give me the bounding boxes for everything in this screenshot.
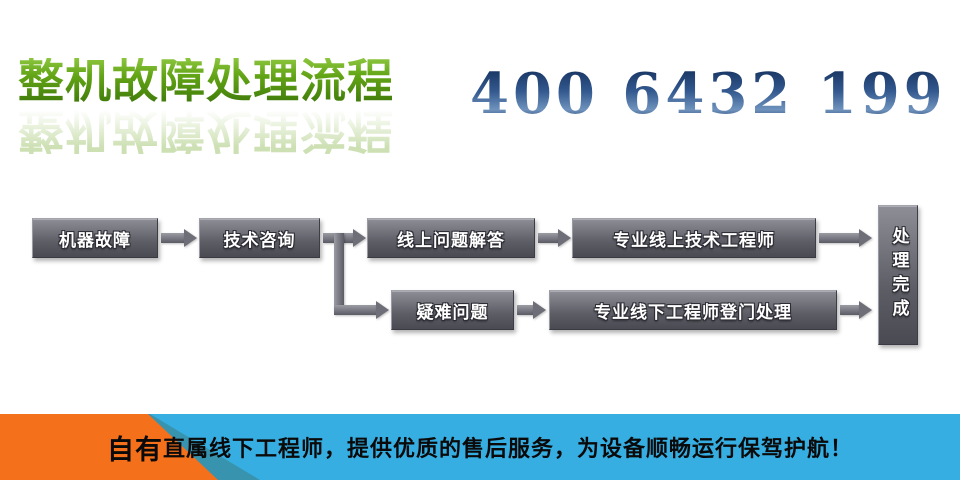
- banner-slogan-emphasis: 自有: [107, 428, 163, 467]
- flow-node-online-engineer[interactable]: 专业线上技术工程师: [572, 218, 816, 258]
- flow-node-online-answer[interactable]: 线上问题解答: [367, 218, 535, 258]
- poster-canvas: 整机故障处理流程 整机故障处理流程 400 6432 199 机器故障 技术咨询…: [0, 0, 960, 480]
- flow-node-tech-consult[interactable]: 技术咨询: [199, 218, 320, 258]
- flow-node-processing-done[interactable]: 处理完成: [878, 205, 918, 345]
- page-title-reflection: 整机故障处理流程: [18, 108, 394, 154]
- flow-node-machine-failure[interactable]: 机器故障: [32, 218, 158, 258]
- flow-node-onsite-engineer[interactable]: 专业线下工程师登门处理: [549, 290, 837, 330]
- bottom-banner: 自有 直属线下工程师，提供优质的售后服务，为设备顺畅运行保驾护航！: [0, 414, 960, 480]
- page-title: 整机故障处理流程 整机故障处理流程: [18, 58, 438, 158]
- page-title-text: 整机故障处理流程: [18, 58, 438, 104]
- banner-slogan-body: 直属线下工程师，提供优质的售后服务，为设备顺畅运行保驾护航！: [163, 431, 853, 463]
- hotline-number: 400 6432 199: [470, 66, 947, 122]
- flow-node-difficult-issue[interactable]: 疑难问题: [391, 290, 514, 330]
- banner-slogan: 自有 直属线下工程师，提供优质的售后服务，为设备顺畅运行保驾护航！: [0, 414, 960, 480]
